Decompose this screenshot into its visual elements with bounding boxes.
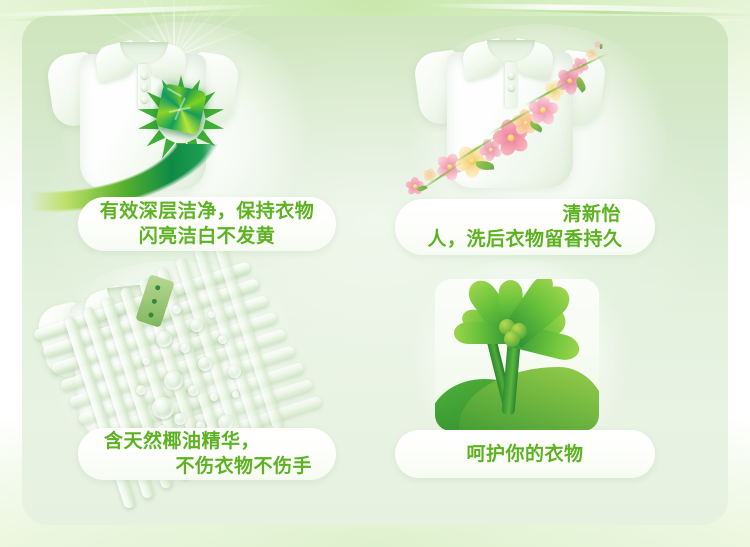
green-crystal-icon	[150, 78, 212, 140]
caption-line: 人，洗后衣物留香持久	[411, 227, 639, 252]
decorative-wisp	[420, 2, 750, 14]
caption-fresh-fragrance: 清新怡 人，洗后衣物留香持久	[395, 199, 655, 255]
caption-line: 闪亮洁白不发黄	[94, 224, 320, 249]
caption-line: 清新怡	[411, 202, 639, 227]
caption-garment-care: 呵护你的衣物	[395, 430, 655, 478]
caption-line: 呵护你的衣物	[411, 442, 639, 467]
palm-tree-logo-icon	[435, 279, 599, 431]
polo-shirt-icon	[421, 26, 607, 206]
promo-poster: 有效深层洁净，保持衣物 闪亮洁白不发黄 清新怡 人，洗后衣物留香持久 含天然椰油…	[0, 0, 750, 547]
caption-coconut-essence: 含天然椰油精华， 不伤衣物不伤手	[78, 428, 336, 480]
caption-line: 不伤衣物不伤手	[94, 454, 320, 479]
caption-line: 有效深层洁净，保持衣物	[94, 199, 320, 224]
caption-deep-clean: 有效深层洁净，保持衣物 闪亮洁白不发黄	[78, 197, 336, 251]
caption-line: 含天然椰油精华，	[94, 429, 320, 454]
